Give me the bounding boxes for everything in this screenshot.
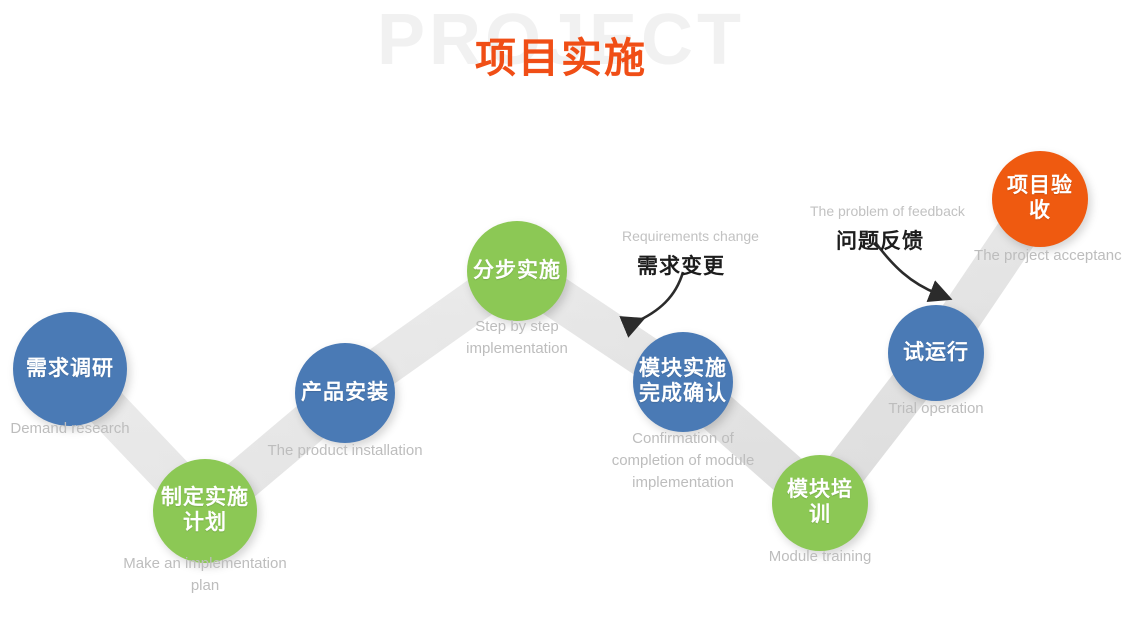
annotation-cn-problem-of-feedback: 问题反馈 [836, 225, 924, 255]
node-label-product-installation: 产品安装 [295, 381, 395, 406]
caption-demand-research: Demand research [0, 418, 185, 440]
annotation-en-requirements-change: Requirements change [622, 228, 759, 244]
node-step-by-step[interactable]: 分步实施 [467, 221, 567, 321]
node-trial-operation[interactable]: 试运行 [888, 305, 984, 401]
caption-module-training: Module training [705, 546, 935, 568]
node-label-trial-operation: 试运行 [897, 341, 975, 366]
node-module-confirmation[interactable]: 模块实施完成确认 [633, 332, 733, 432]
caption-implementation-plan: Make an implementation plan [75, 553, 335, 597]
caption-step-by-step: Step by step implementation [407, 316, 627, 360]
node-product-installation[interactable]: 产品安装 [295, 343, 395, 443]
slide-canvas: PROJECT 项目实施 需求调研制定实施计划产品安装分步实施模块实施完成确认模… [0, 0, 1122, 617]
node-implementation-plan[interactable]: 制定实施计划 [153, 459, 257, 563]
caption-product-installation: The product installation [215, 440, 475, 462]
node-label-implementation-plan: 制定实施计划 [155, 486, 255, 536]
node-label-step-by-step: 分步实施 [467, 259, 567, 284]
node-label-demand-research: 需求调研 [20, 357, 120, 382]
caption-module-confirmation: Confirmation of completion of module imp… [568, 428, 798, 493]
node-label-project-acceptance: 项目验收 [992, 174, 1088, 224]
node-demand-research[interactable]: 需求调研 [13, 312, 127, 426]
annotation-en-problem-of-feedback: The problem of feedback [810, 203, 965, 219]
node-label-module-confirmation: 模块实施完成确认 [633, 357, 733, 407]
caption-trial-operation: Trial operation [821, 398, 1051, 420]
annotation-cn-requirements-change: 需求变更 [637, 250, 725, 280]
caption-project-acceptance: The project acceptance [937, 245, 1122, 267]
node-project-acceptance[interactable]: 项目验收 [992, 151, 1088, 247]
